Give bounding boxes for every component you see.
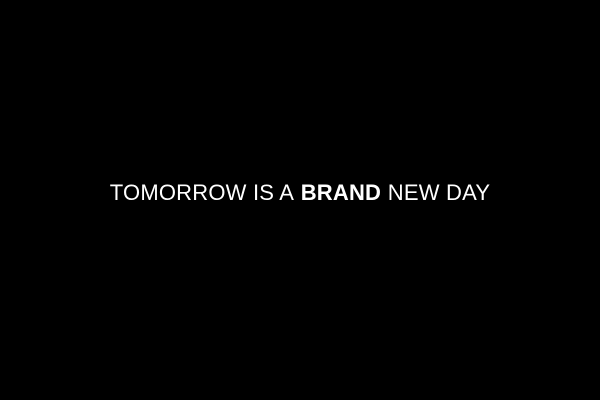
headline-segment-before: TOMORROW IS A [110, 180, 294, 205]
poster-canvas: TOMORROW IS ABRANDNEW DAY [0, 0, 600, 400]
headline-segment-emphasis: BRAND [301, 180, 381, 205]
headline-segment-after: NEW DAY [388, 180, 490, 205]
headline-text: TOMORROW IS ABRANDNEW DAY [0, 181, 600, 205]
